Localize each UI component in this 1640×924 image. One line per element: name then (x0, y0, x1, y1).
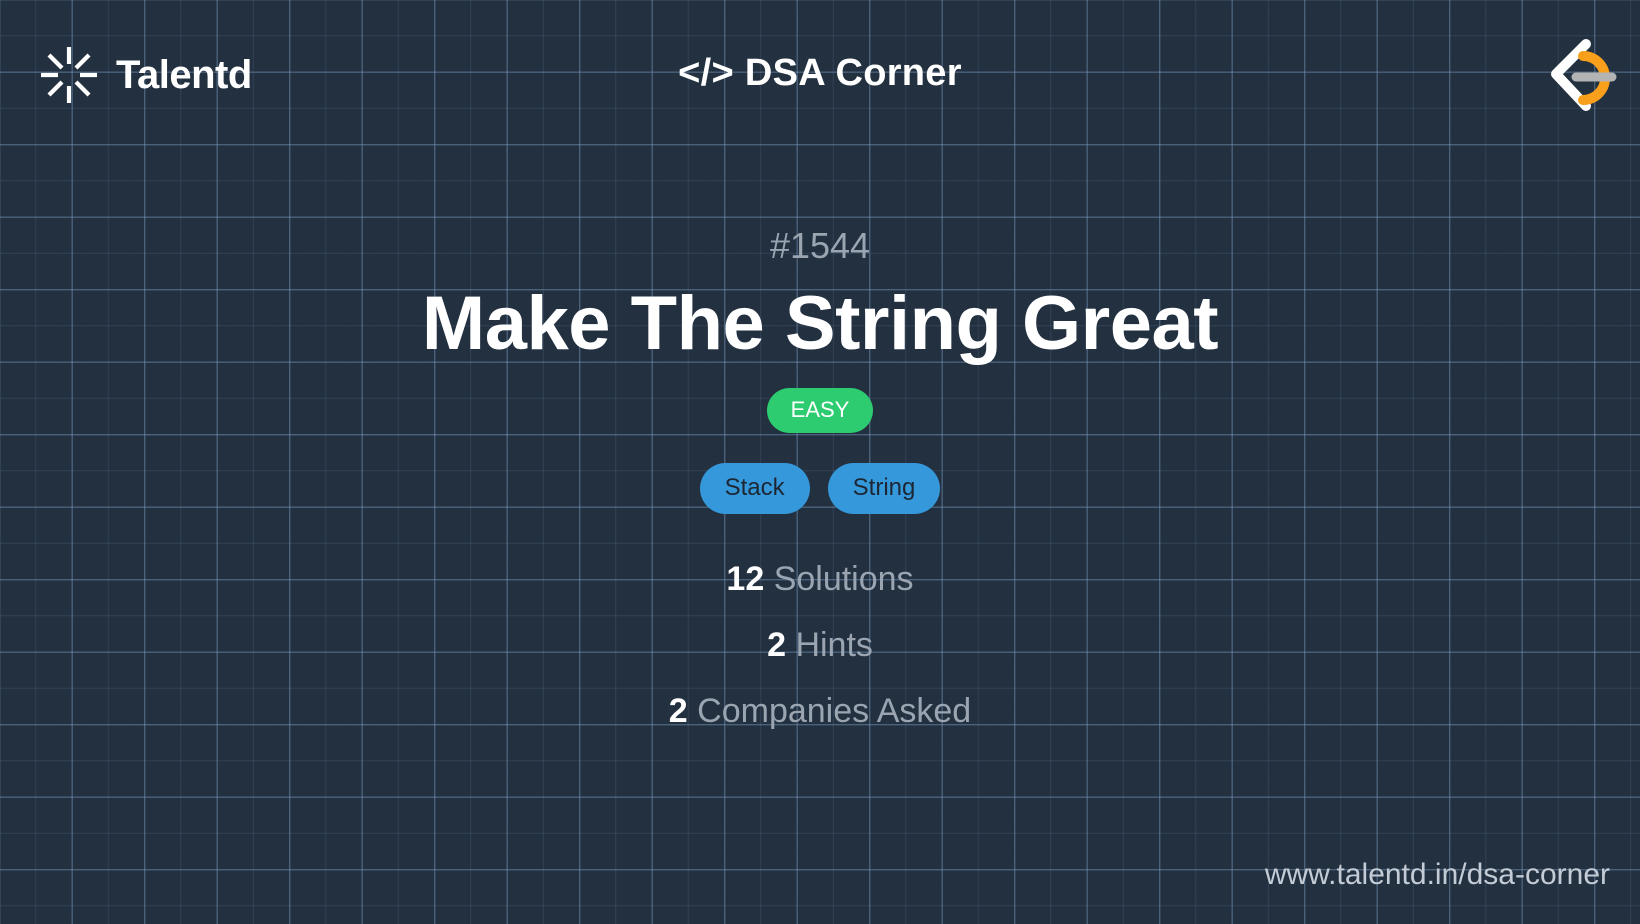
stat-solutions-value: 12 (726, 560, 764, 598)
stat-solutions-label-text: Solutions (774, 560, 914, 598)
stat-companies-value: 2 (669, 692, 688, 730)
stat-hints: 2 Hints (669, 628, 971, 662)
stat-companies: 2 Companies Asked (669, 694, 971, 728)
tag-pill-stack[interactable]: Stack (700, 463, 810, 514)
stat-solutions-label (764, 560, 773, 598)
stat-companies-label-text: Companies Asked (697, 692, 971, 730)
header: Talentd </> DSA Corner (0, 0, 1640, 152)
stat-hints-label-text: Hints (795, 626, 872, 664)
problem-card: #1544 Make The String Great EASY Stack S… (0, 152, 1640, 814)
problem-number: #1544 (770, 228, 870, 264)
problem-title: Make The String Great (382, 284, 1258, 364)
page-title: </> DSA Corner (0, 52, 1640, 95)
tag-list: Stack String (700, 463, 941, 514)
leetcode-logo-icon (1526, 28, 1622, 124)
poster-canvas: Talentd </> DSA Corner #1544 Make The St… (0, 0, 1640, 924)
stat-solutions: 12 Solutions (669, 562, 971, 596)
footer-url[interactable]: www.talentd.in/dsa-corner (1265, 858, 1610, 891)
tag-pill-string[interactable]: String (828, 463, 941, 514)
difficulty-badge: EASY (767, 388, 874, 433)
stats-list: 12 Solutions 2 Hints 2 Companies Asked (669, 562, 971, 728)
stat-hints-value: 2 (767, 626, 786, 664)
footer: www.talentd.in/dsa-corner (1265, 860, 1610, 890)
